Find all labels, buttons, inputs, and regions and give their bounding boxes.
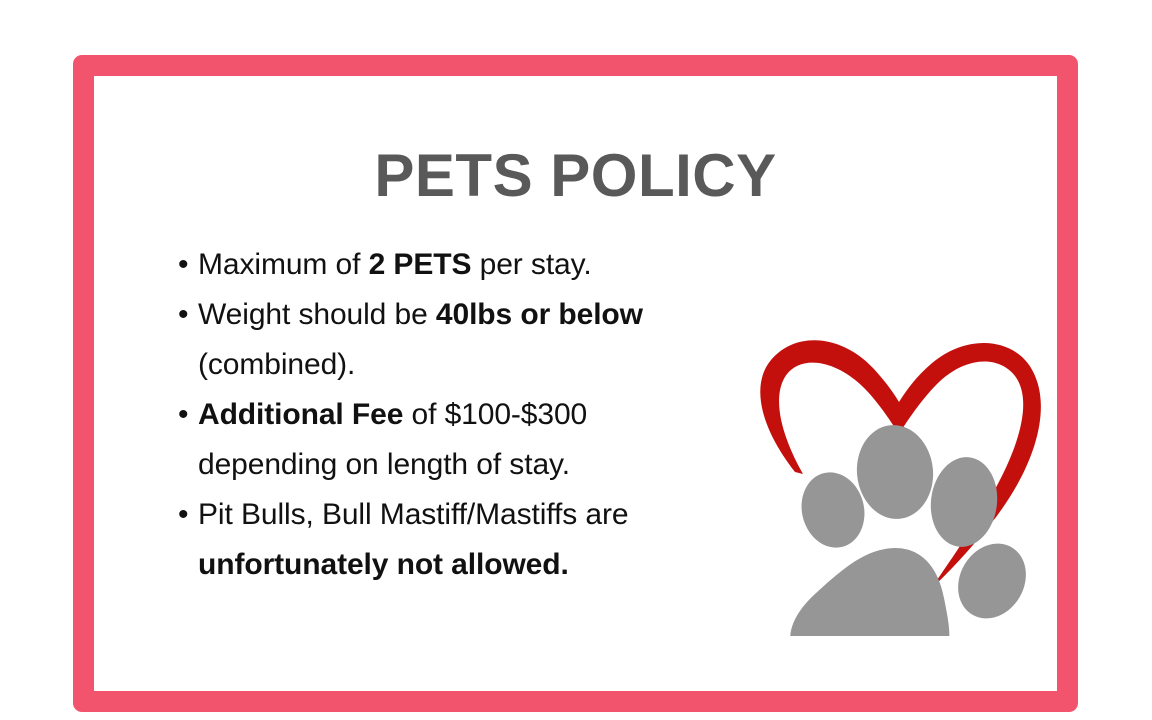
bullet-text-emphasis: Additional Fee	[198, 398, 403, 431]
bullet-text: Pit Bulls, Bull Mastiff/Mastiffs are	[198, 498, 637, 531]
policy-bullet-item: •Weight should be 40lbs or below (combin…	[176, 290, 701, 390]
bullet-text-emphasis: 40lbs or below	[436, 298, 643, 331]
bullet-text: Weight should be	[198, 298, 436, 331]
page-title: PETS POLICY	[94, 146, 1057, 206]
slide-canvas: PETS POLICY •Maximum of 2 PETS per stay.…	[0, 0, 1152, 720]
bullet-text-emphasis: unfortunately not allowed.	[198, 548, 569, 581]
paw-toe-2	[852, 421, 937, 522]
bullet-text-emphasis: 2 PETS	[369, 248, 472, 281]
heart-paw-icon	[699, 276, 1069, 636]
bullet-text: Maximum of	[198, 248, 369, 281]
policy-bullet-list: •Maximum of 2 PETS per stay.•Weight shou…	[176, 240, 701, 590]
policy-card-inner: PETS POLICY •Maximum of 2 PETS per stay.…	[94, 76, 1057, 691]
policy-card: PETS POLICY •Maximum of 2 PETS per stay.…	[73, 55, 1078, 712]
bullet-dot-icon: •	[178, 490, 188, 540]
bullet-dot-icon: •	[178, 390, 188, 440]
bullet-dot-icon: •	[178, 240, 188, 290]
policy-bullet-item: •Pit Bulls, Bull Mastiff/Mastiffs are un…	[176, 490, 701, 590]
paw-main-pad	[790, 548, 949, 636]
bullet-text: per stay.	[471, 248, 591, 281]
paw-toe-3	[926, 453, 1002, 550]
policy-bullet-item: •Additional Fee of $100-$300 depending o…	[176, 390, 701, 490]
bullet-dot-icon: •	[178, 290, 188, 340]
policy-bullet-item: •Maximum of 2 PETS per stay.	[176, 240, 701, 290]
